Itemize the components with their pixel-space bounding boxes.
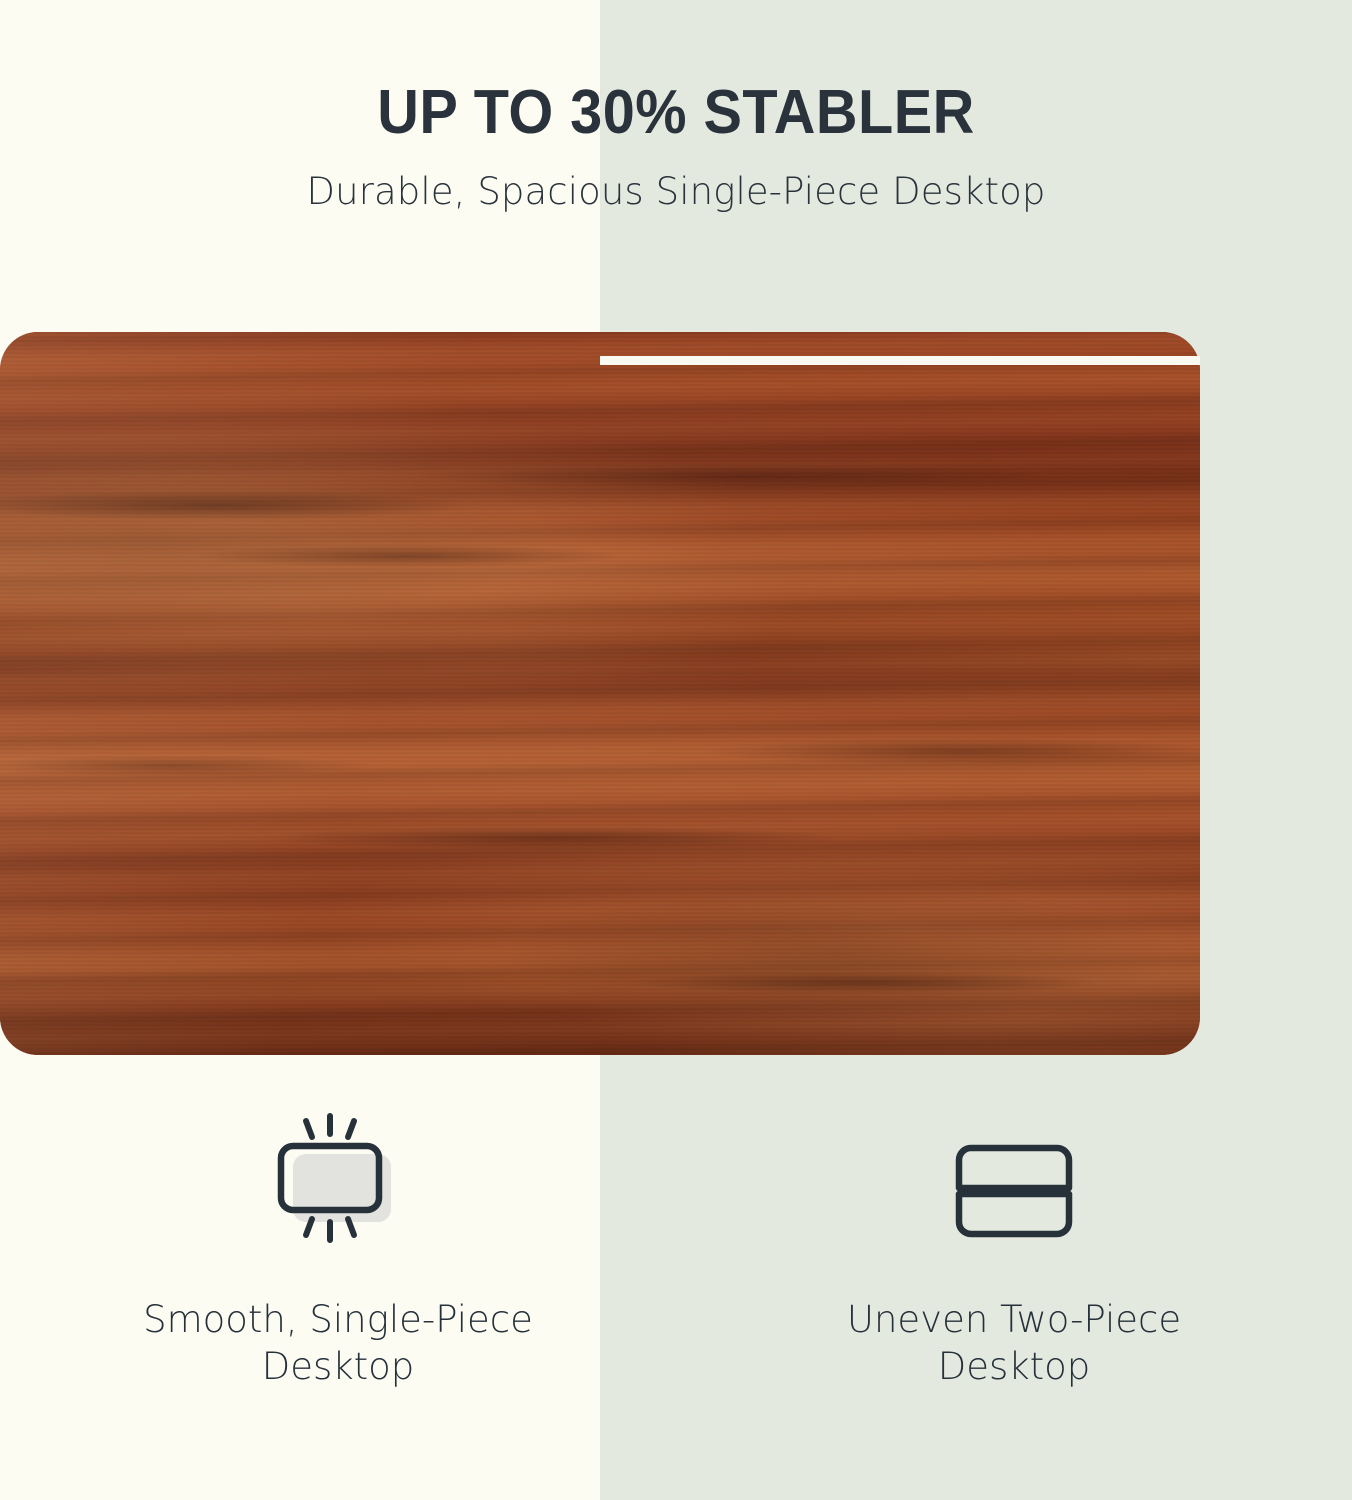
comparison-column-two-piece: Uneven Two-Piece Desktop — [676, 1108, 1352, 1438]
infographic-panel: UP TO 30% STABLER Durable, Spacious Sing… — [0, 0, 1352, 1500]
icon-slot-left — [263, 1108, 413, 1258]
wood-desktop-panel — [0, 332, 1200, 1055]
page-title: UP TO 30% STABLER — [47, 82, 1304, 144]
wood-surface-sheen — [0, 332, 1200, 1055]
comparison-caption-two-piece: Uneven Two-Piece Desktop — [779, 1296, 1249, 1391]
header: UP TO 30% STABLER Durable, Spacious Sing… — [0, 0, 1352, 213]
desktop-seam-gap — [600, 356, 1200, 365]
two-piece-desktop-icon — [939, 1108, 1089, 1258]
icon-slot-right — [939, 1108, 1089, 1258]
comparison-row: Smooth, Single-Piece Desktop Uneven Two-… — [0, 1108, 1352, 1438]
single-piece-desktop-icon — [263, 1108, 413, 1258]
page-subtitle: Durable, Spacious Single-Piece Desktop — [0, 172, 1352, 213]
comparison-column-single-piece: Smooth, Single-Piece Desktop — [0, 1108, 676, 1438]
desktop-product-image — [0, 332, 1200, 1055]
comparison-caption-single-piece: Smooth, Single-Piece Desktop — [103, 1296, 573, 1391]
